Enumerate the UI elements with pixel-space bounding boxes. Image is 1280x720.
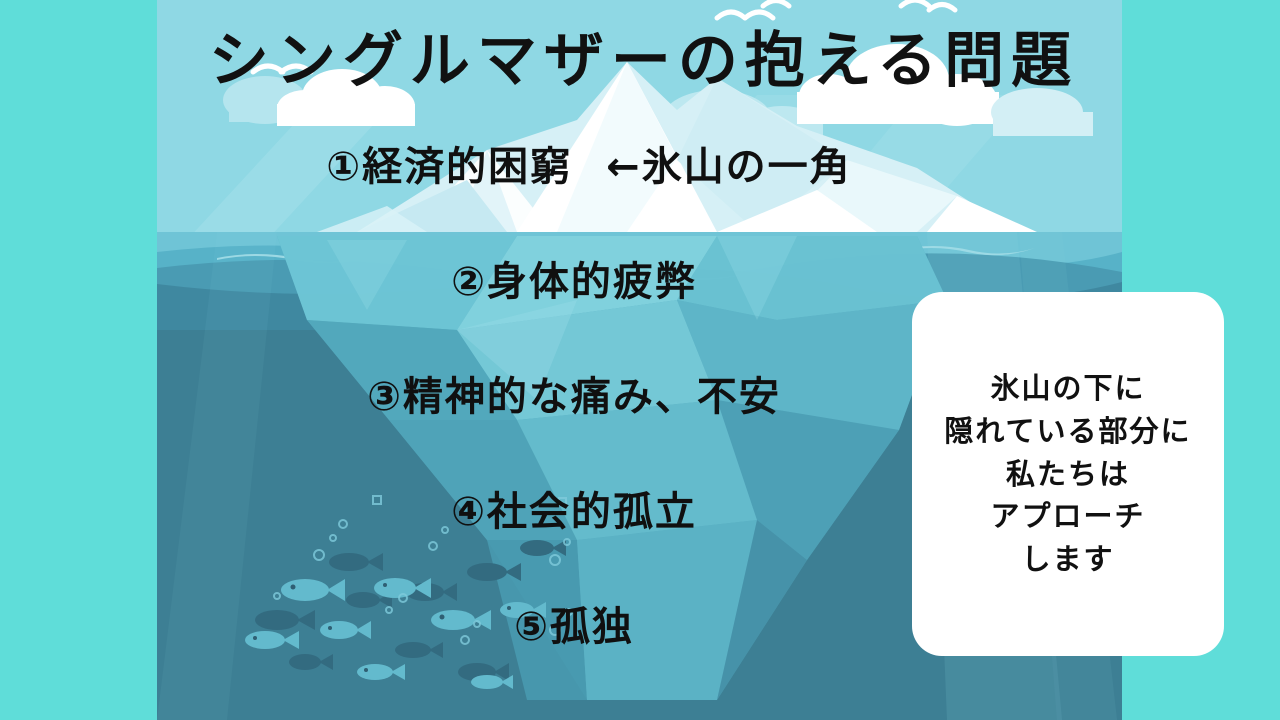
list-item-2-label: ②身体的疲弊 <box>451 259 697 305</box>
callout-line-4: アプローチ <box>990 495 1145 538</box>
list-item-5-label: ⑤孤独 <box>514 604 634 650</box>
callout-card: 氷山の下に 隠れている部分に 私たちは アプローチ します <box>912 292 1224 656</box>
list-item-4-label: ④社会的孤立 <box>451 489 697 535</box>
page-title: シングルマザーの抱える問題 <box>0 28 1280 94</box>
list-item-1-note: ←氷山の一角 <box>606 144 852 190</box>
callout-line-2: 隠れている部分に <box>944 410 1191 453</box>
callout-line-3: 私たちは <box>1006 453 1130 496</box>
callout-line-1: 氷山の下に <box>990 367 1145 410</box>
callout-line-5: します <box>1021 538 1114 581</box>
slide-root: シングルマザーの抱える問題 ①経済的困窮←氷山の一角 ②身体的疲弊 ③精神的な痛… <box>0 0 1280 720</box>
list-item-1-label: ①経済的困窮 <box>326 144 572 190</box>
list-item-1: ①経済的困窮←氷山の一角 <box>0 145 1280 189</box>
list-item-3-label: ③精神的な痛み、不安 <box>367 374 781 420</box>
